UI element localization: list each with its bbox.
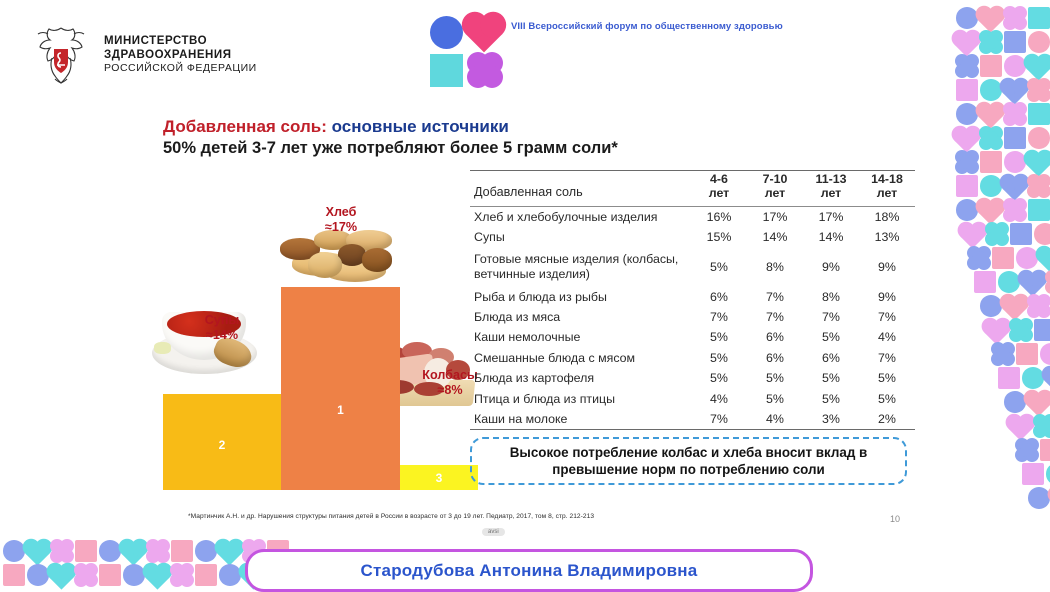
clover-icon: [146, 539, 170, 563]
table-cell-value: 6%: [747, 348, 803, 368]
circle-icon: [3, 540, 25, 562]
table-cell-value: 18%: [859, 206, 915, 227]
table-cell-value: 5%: [691, 368, 747, 388]
clover-icon: [991, 342, 1015, 366]
square-icon: [1016, 343, 1037, 364]
ministry-line2: ЗДРАВООХРАНЕНИЯ: [104, 49, 257, 63]
table-cell-value: 7%: [747, 307, 803, 327]
clover-icon: [1027, 174, 1050, 198]
table-cell-name: Готовые мясные изделия (колбасы, ветчинн…: [470, 248, 691, 287]
square-icon: [1034, 319, 1050, 340]
circle-icon: [956, 199, 978, 221]
clover-icon: [467, 52, 503, 88]
age-range-2: 11-13: [805, 173, 857, 187]
slide-header: МИНИСТЕРСТВО ЗДРАВООХРАНЕНИЯ РОССИЙСКОЙ …: [0, 0, 1050, 100]
square-icon: [1022, 463, 1043, 484]
table-row: Смешанные блюда с мясом5%6%6%7%: [470, 348, 915, 368]
heart-icon: [1021, 272, 1045, 296]
age-range-0: 4-6: [693, 173, 745, 187]
table-cell-value: 7%: [859, 307, 915, 327]
circle-icon: [1040, 343, 1050, 365]
callout-text: Высокое потребление колбас и хлеба вноси…: [472, 444, 905, 478]
bar-kolbasy: 3: [400, 465, 478, 490]
ministry-logo: МИНИСТЕРСТВО ЗДРАВООХРАНЕНИЯ РОССИЙСКОЙ …: [30, 22, 257, 88]
clover-icon: [1045, 270, 1050, 294]
clover-icon: [985, 222, 1009, 246]
circle-icon: [99, 540, 121, 562]
table-cell-value: 9%: [859, 287, 915, 307]
circle-icon: [1046, 463, 1050, 485]
label-supy-value: ≈14%: [172, 328, 272, 343]
table-cell-value: 6%: [747, 327, 803, 347]
table-row: Блюда из картофеля5%5%5%5%: [470, 368, 915, 388]
bar-rank-3: 3: [436, 471, 443, 485]
table-cell-value: 4%: [691, 388, 747, 408]
heart-icon: [1027, 392, 1050, 416]
age-unit-1: лет: [749, 187, 801, 201]
clover-icon: [967, 246, 991, 270]
table-row: Блюда из мяса7%7%7%7%: [470, 307, 915, 327]
table-cell-name: Блюда из картофеля: [470, 368, 691, 388]
ministry-line3: РОССИЙСКОЙ ФЕДЕРАЦИИ: [104, 62, 257, 74]
heart-icon: [961, 224, 985, 248]
square-icon: [1028, 103, 1049, 124]
table-row: Рыба и блюда из рыбы6%7%8%9%: [470, 287, 915, 307]
clover-icon: [1033, 414, 1050, 438]
heart-icon: [1045, 368, 1050, 392]
table-cell-name: Рыба и блюда из рыбы: [470, 287, 691, 307]
heart-icon: [26, 541, 50, 565]
circle-icon: [980, 175, 1002, 197]
heart-icon: [1027, 152, 1050, 176]
circle-icon: [980, 295, 1002, 317]
table-corner-header: Добавленная соль: [470, 171, 691, 207]
square-icon: [956, 175, 977, 196]
circle-icon: [998, 271, 1020, 293]
table-row: Супы15%14%14%13%: [470, 227, 915, 247]
table-cell-name: Супы: [470, 227, 691, 247]
heart-icon: [979, 200, 1003, 224]
table-head: Добавленная соль 4-6 лет 7-10 лет 11-13 …: [470, 171, 915, 207]
table-cell-value: 5%: [747, 388, 803, 408]
table-cell-value: 5%: [859, 388, 915, 408]
age-unit-2: лет: [805, 187, 857, 201]
table-col-header-0: 4-6 лет: [691, 171, 747, 207]
heart-icon: [1039, 248, 1050, 272]
bar-supy: 2: [163, 394, 281, 490]
table-cell-value: 4%: [859, 327, 915, 347]
age-unit-3: лет: [861, 187, 913, 201]
square-icon: [171, 540, 192, 561]
clover-icon: [1003, 102, 1027, 126]
page-number: 10: [890, 514, 900, 524]
podium-bar-chart: 2 1 3 Супы ≈14% Хлеб ≈17% Колбасы ≈8%: [150, 210, 480, 490]
clover-icon: [1015, 438, 1039, 462]
square-icon: [992, 247, 1013, 268]
square-icon: [195, 564, 216, 585]
heart-icon: [955, 128, 979, 152]
label-hleb-value: ≈17%: [286, 220, 396, 235]
circle-icon: [1022, 367, 1044, 389]
clover-icon: [1009, 318, 1033, 342]
clover-icon: [74, 563, 98, 587]
table-cell-value: 8%: [747, 248, 803, 287]
table-cell-value: 7%: [803, 307, 859, 327]
table-col-header-2: 11-13 лет: [803, 171, 859, 207]
page-title: Добавленная соль: основные источники: [163, 117, 509, 137]
forum-title: VIII Всероссийский форум по общественном…: [511, 14, 783, 33]
square-icon: [998, 367, 1019, 388]
table-cell-value: 7%: [859, 348, 915, 368]
circle-icon: [1004, 151, 1026, 173]
square-icon: [430, 54, 463, 87]
clover-icon: [170, 563, 194, 587]
heart-icon: [1009, 416, 1033, 440]
forum-marks: [430, 14, 502, 86]
table-body: Хлеб и хлебобулочные изделия16%17%17%18%…: [470, 206, 915, 429]
avsi-badge: avsi: [482, 528, 505, 536]
table-cell-value: 5%: [691, 248, 747, 287]
table-cell-value: 7%: [691, 409, 747, 430]
table-cell-value: 5%: [859, 368, 915, 388]
square-icon: [75, 540, 96, 561]
table-cell-value: 13%: [859, 227, 915, 247]
clover-icon: [1003, 198, 1027, 222]
speaker-name-banner: Стародубова Антонина Владимировна: [245, 549, 813, 592]
heart-icon: [146, 565, 170, 589]
slide-root: МИНИСТЕРСТВО ЗДРАВООХРАНЕНИЯ РОССИЙСКОЙ …: [0, 0, 1050, 591]
heart-icon: [218, 541, 242, 565]
clover-icon: [50, 539, 74, 563]
ministry-line1: МИНИСТЕРСТВО: [104, 35, 257, 49]
table-cell-value: 17%: [747, 206, 803, 227]
table: Добавленная соль 4-6 лет 7-10 лет 11-13 …: [470, 170, 915, 430]
square-icon: [1010, 223, 1031, 244]
table-cell-name: Каши немолочные: [470, 327, 691, 347]
table-header-row: Добавленная соль 4-6 лет 7-10 лет 11-13 …: [470, 171, 915, 207]
circle-icon: [195, 540, 217, 562]
heart-icon: [50, 565, 74, 589]
table-cell-value: 7%: [747, 287, 803, 307]
table-cell-value: 5%: [803, 388, 859, 408]
table-cell-value: 14%: [747, 227, 803, 247]
table-cell-value: 4%: [747, 409, 803, 430]
table-cell-name: Птица и блюда из птицы: [470, 388, 691, 408]
circle-icon: [1004, 391, 1026, 413]
circle-icon: [123, 564, 145, 586]
table-cell-value: 9%: [803, 248, 859, 287]
table-cell-value: 6%: [803, 348, 859, 368]
circle-icon: [27, 564, 49, 586]
table-col-header-1: 7-10 лет: [747, 171, 803, 207]
square-icon: [1004, 127, 1025, 148]
table-row: Птица и блюда из птицы4%5%5%5%: [470, 388, 915, 408]
bar-rank-2: 2: [219, 438, 226, 452]
table-cell-value: 5%: [691, 348, 747, 368]
salt-sources-table: Добавленная соль 4-6 лет 7-10 лет 11-13 …: [470, 170, 915, 430]
heart-icon: [979, 104, 1003, 128]
table-cell-value: 5%: [691, 327, 747, 347]
heart-icon: [1003, 176, 1027, 200]
square-icon: [3, 564, 24, 585]
table-cell-value: 5%: [803, 327, 859, 347]
clover-icon: [979, 126, 1003, 150]
table-cell-value: 16%: [691, 206, 747, 227]
label-supy: Супы ≈14%: [172, 313, 272, 344]
heart-icon: [467, 14, 503, 50]
page-subtitle: 50% детей 3-7 лет уже потребляют более 5…: [163, 139, 618, 158]
age-range-3: 14-18: [861, 173, 913, 187]
table-cell-value: 3%: [803, 409, 859, 430]
circle-icon: [1028, 487, 1050, 509]
heart-icon: [985, 320, 1009, 344]
age-range-1: 7-10: [749, 173, 801, 187]
speaker-name: Стародубова Антонина Владимировна: [361, 561, 698, 581]
double-headed-eagle-icon: [30, 22, 92, 88]
circle-icon: [1016, 247, 1038, 269]
page-title-blue: основные источники: [327, 117, 509, 136]
forum-logo: VIII Всероссийский форум по общественном…: [430, 14, 783, 86]
square-icon: [99, 564, 120, 585]
circle-icon: [430, 16, 463, 49]
clover-icon: [955, 150, 979, 174]
heart-icon: [1003, 296, 1027, 320]
label-hleb-name: Хлеб: [286, 205, 396, 220]
table-cell-value: 14%: [803, 227, 859, 247]
table-cell-value: 15%: [691, 227, 747, 247]
table-row: Готовые мясные изделия (колбасы, ветчинн…: [470, 248, 915, 287]
table-cell-value: 6%: [691, 287, 747, 307]
bar-rank-1: 1: [337, 403, 344, 417]
table-cell-name: Смешанные блюда с мясом: [470, 348, 691, 368]
age-unit-0: лет: [693, 187, 745, 201]
table-cell-value: 9%: [859, 248, 915, 287]
table-cell-name: Каши на молоке: [470, 409, 691, 430]
callout-box: Высокое потребление колбас и хлеба вноси…: [470, 437, 907, 485]
square-icon: [974, 271, 995, 292]
table-row: Каши на молоке7%4%3%2%: [470, 409, 915, 430]
table-col-header-3: 14-18 лет: [859, 171, 915, 207]
table-cell-value: 8%: [803, 287, 859, 307]
bar-hleb: 1: [281, 287, 400, 490]
square-icon: [1028, 199, 1049, 220]
table-cell-name: Хлеб и хлебобулочные изделия: [470, 206, 691, 227]
table-cell-value: 5%: [803, 368, 859, 388]
clover-icon: [1027, 294, 1050, 318]
footnote: *Мартинчик А.Н. и др. Нарушения структур…: [188, 513, 594, 520]
table-cell-value: 7%: [691, 307, 747, 327]
page-title-red: Добавленная соль:: [163, 117, 327, 136]
circle-icon: [956, 103, 978, 125]
circle-icon: [1028, 127, 1050, 149]
table-cell-value: 2%: [859, 409, 915, 430]
circle-icon: [219, 564, 241, 586]
table-row: Каши немолочные5%6%5%4%: [470, 327, 915, 347]
label-hleb: Хлеб ≈17%: [286, 205, 396, 236]
table-row: Хлеб и хлебобулочные изделия16%17%17%18%: [470, 206, 915, 227]
table-cell-value: 17%: [803, 206, 859, 227]
circle-icon: [1034, 223, 1050, 245]
table-cell-name: Блюда из мяса: [470, 307, 691, 327]
square-icon: [1040, 439, 1050, 460]
heart-icon: [122, 541, 146, 565]
label-supy-name: Супы: [172, 313, 272, 328]
table-cell-value: 5%: [747, 368, 803, 388]
square-icon: [980, 151, 1001, 172]
